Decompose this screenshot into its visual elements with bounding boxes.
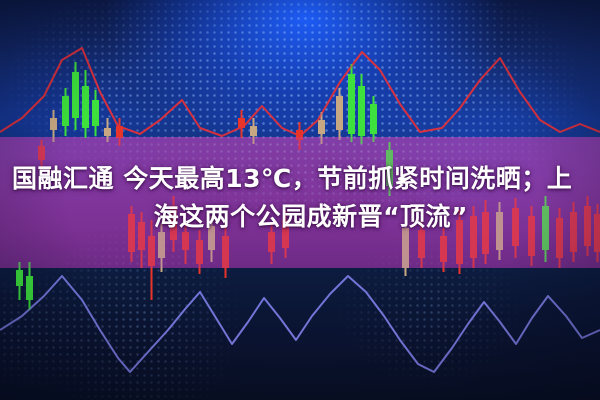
headline-line-2: 海这两个公园成新晋“顶流”	[0, 198, 586, 236]
headline-line-1: 国融汇通 今天最高13℃，节前抓紧时间洗晒；上	[0, 160, 586, 198]
news-banner-image: 国融汇通 今天最高13℃，节前抓紧时间洗晒；上 海这两个公园成新晋“顶流”	[0, 0, 600, 400]
headline-text: 国融汇通 今天最高13℃，节前抓紧时间洗晒；上 海这两个公园成新晋“顶流”	[0, 160, 600, 236]
